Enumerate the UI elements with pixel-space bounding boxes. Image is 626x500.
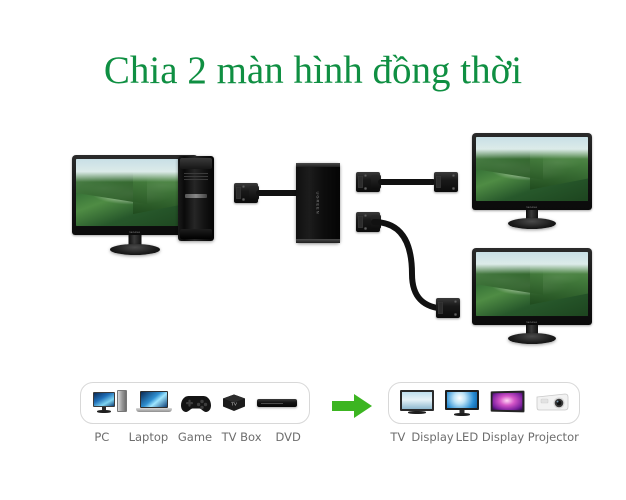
desktop-tower bbox=[117, 390, 127, 412]
tv-icon[interactable] bbox=[400, 389, 434, 417]
vga-connector-port bbox=[438, 302, 443, 314]
monitor-bezel: lenovo bbox=[472, 133, 592, 210]
destination-label-tv: TV bbox=[386, 430, 410, 444]
monitor-brand-logo: lenovo bbox=[130, 230, 141, 234]
vga-screw bbox=[364, 214, 367, 217]
pc-tower-badge bbox=[185, 194, 207, 198]
pc-tower-vent bbox=[184, 179, 208, 180]
laptop-icon[interactable] bbox=[136, 390, 172, 416]
vga-connector-out2-far bbox=[436, 298, 460, 318]
monitor-base bbox=[508, 218, 556, 229]
vga-screw bbox=[364, 227, 367, 230]
gamepad-glyph bbox=[180, 392, 212, 414]
display-screen bbox=[445, 390, 479, 410]
source-label-dvd: DVD bbox=[268, 430, 308, 444]
monitor-bottom-right: lenovo bbox=[472, 248, 592, 344]
vga-connector-port bbox=[358, 216, 363, 228]
projector-icon[interactable] bbox=[535, 391, 569, 415]
vga-splitter-brand: UGREEN bbox=[316, 191, 321, 214]
source-label-tvbox: TV Box bbox=[219, 430, 265, 444]
green-arrow-icon bbox=[332, 392, 372, 420]
vga-cable-top bbox=[378, 179, 436, 185]
pc-tower-bottom-panel bbox=[180, 229, 212, 239]
monitor-base bbox=[508, 333, 556, 344]
pc-tower-vent bbox=[184, 173, 208, 174]
pc-tower-top-panel bbox=[180, 158, 212, 169]
monitor-screen bbox=[476, 252, 588, 316]
diagram-canvas: Chia 2 màn hình đồng thời lenovo bbox=[0, 0, 626, 500]
vga-screw bbox=[364, 187, 367, 190]
desktop-monitor-foot bbox=[97, 410, 111, 413]
source-devices-row: TV bbox=[81, 383, 309, 423]
source-label-game: Game bbox=[175, 430, 215, 444]
monitor-brand-logo: lenovo bbox=[527, 320, 538, 324]
tv-base bbox=[408, 411, 426, 414]
dvd-player-slot bbox=[261, 403, 283, 404]
page-title: Chia 2 màn hình đồng thời bbox=[0, 48, 626, 94]
desktop-monitor-screen bbox=[93, 392, 115, 407]
vga-connector-input bbox=[234, 183, 258, 203]
vga-cable-bottom bbox=[372, 212, 482, 322]
destination-devices-row bbox=[389, 383, 579, 423]
vga-connector-out1-near bbox=[356, 172, 380, 192]
monitor-bezel: lenovo bbox=[472, 248, 592, 325]
vga-screw bbox=[242, 198, 245, 201]
vga-splitter: UGREEN bbox=[296, 163, 340, 243]
destination-label-display: Display bbox=[410, 430, 456, 444]
screen-sky bbox=[476, 252, 588, 274]
vga-screw bbox=[454, 300, 457, 303]
vga-connector-port bbox=[436, 176, 441, 188]
source-labels-row: PC Laptop Game TV Box DVD bbox=[80, 430, 310, 444]
laptop-base bbox=[136, 408, 172, 412]
vga-connector-port bbox=[358, 176, 363, 188]
display-icon[interactable] bbox=[445, 389, 479, 417]
destination-labels-row: TV Display LED Display Projector bbox=[386, 430, 582, 444]
pc-tower bbox=[178, 156, 214, 241]
gamepad-icon[interactable] bbox=[180, 392, 212, 414]
vga-screw bbox=[454, 313, 457, 316]
vga-screw bbox=[452, 174, 455, 177]
vga-splitter-bottom-cap bbox=[296, 239, 340, 243]
tv-box-icon[interactable]: TV bbox=[220, 393, 248, 413]
vga-screw bbox=[452, 187, 455, 190]
destination-devices-panel bbox=[388, 382, 580, 424]
source-label-laptop: Laptop bbox=[125, 430, 171, 444]
vga-screw bbox=[364, 174, 367, 177]
tv-box-glyph: TV bbox=[220, 393, 248, 413]
display-base bbox=[454, 413, 470, 416]
vga-cable-input bbox=[256, 190, 300, 196]
vga-connector-port bbox=[236, 187, 241, 199]
destination-label-led-display: LED Display bbox=[455, 430, 524, 444]
destination-label-projector: Projector bbox=[525, 430, 582, 444]
monitor-brand-logo: lenovo bbox=[527, 205, 538, 209]
green-arrow-glyph bbox=[332, 392, 372, 420]
dvd-player-icon[interactable] bbox=[257, 395, 297, 411]
vga-splitter-top-cap bbox=[296, 163, 340, 167]
source-devices-panel: TV bbox=[80, 382, 310, 424]
projector-glyph bbox=[535, 391, 569, 415]
monitor-top-right: lenovo bbox=[472, 133, 592, 229]
vga-connector-out1-far bbox=[434, 172, 458, 192]
laptop-screen bbox=[140, 391, 168, 408]
pc-monitor-base bbox=[110, 244, 160, 255]
led-display-screen bbox=[490, 391, 524, 413]
vga-screw bbox=[242, 185, 245, 188]
source-label-pc: PC bbox=[82, 430, 122, 444]
screen-sky bbox=[76, 159, 194, 182]
tv-screen bbox=[400, 390, 434, 411]
monitor-screen bbox=[476, 137, 588, 201]
pc-monitor-screen bbox=[76, 159, 194, 226]
desktop-computer-icon[interactable] bbox=[93, 389, 127, 417]
screen-sky bbox=[476, 137, 588, 159]
svg-text:TV: TV bbox=[231, 402, 237, 407]
pc-tower-vent bbox=[184, 176, 208, 177]
led-display-icon[interactable] bbox=[490, 389, 524, 417]
